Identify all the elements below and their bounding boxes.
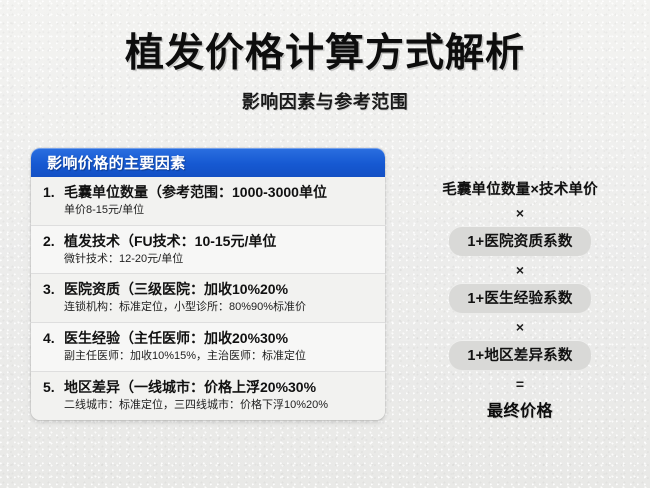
factors-card-header-label: 影响价格的主要因素 — [47, 152, 186, 173]
page-title: 植发价格计算方式解析 — [0, 34, 650, 75]
formula-operator-2: × — [398, 263, 642, 277]
factor-row-2: 2.植发技术（FU技术：10-15元/单位 微针技术：12-20元/单位 — [31, 226, 385, 275]
factor-sub-2: 微针技术：12-20元/单位 — [64, 252, 375, 267]
factor-title-5: 地区差异（一线城市：价格上浮20%30% — [64, 379, 316, 395]
factor-sub-4: 副主任医师：加收10%15%，主治医师：标准定位 — [64, 349, 375, 364]
factor-main-3: 3.医院资质（三级医院：加收10%20% — [43, 280, 375, 299]
formula-term-3-wrapper: 1+地区差异系数 — [398, 340, 642, 370]
factors-card-header: 影响价格的主要因素 — [31, 148, 385, 177]
factor-title-1: 毛囊单位数量（参考范围：1000-3000单位 — [64, 184, 327, 200]
formula-term-1: 1+医院资质系数 — [449, 226, 590, 256]
factor-main-1: 1.毛囊单位数量（参考范围：1000-3000单位 — [43, 183, 375, 202]
factor-title-4: 医生经验（主任医师：加收20%30% — [64, 330, 288, 346]
formula-base-term: 毛囊单位数量×技术单价 — [398, 178, 642, 199]
factors-card: 影响价格的主要因素 1.毛囊单位数量（参考范围：1000-3000单位 单价8-… — [31, 148, 385, 420]
title-block: 植发价格计算方式解析 影响因素与参考范围 — [0, 34, 650, 114]
formula-term-1-wrapper: 1+医院资质系数 — [398, 226, 642, 256]
factor-row-4: 4.医生经验（主任医师：加收20%30% 副主任医师：加收10%15%，主治医师… — [31, 323, 385, 372]
factor-row-5: 5.地区差异（一线城市：价格上浮20%30% 二线城市：标准定位，三四线城市：价… — [31, 372, 385, 420]
formula-column: 毛囊单位数量×技术单价 × 1+医院资质系数 × 1+医生经验系数 × 1+地区… — [398, 178, 642, 421]
formula-operator-1: × — [398, 206, 642, 220]
factor-main-2: 2.植发技术（FU技术：10-15元/单位 — [43, 232, 375, 251]
formula-equals-sign: = — [398, 377, 642, 391]
formula-term-2: 1+医生经验系数 — [449, 283, 590, 313]
factor-row-1: 1.毛囊单位数量（参考范围：1000-3000单位 单价8-15元/单位 — [31, 177, 385, 226]
slide-canvas: 植发价格计算方式解析 影响因素与参考范围 影响价格的主要因素 1.毛囊单位数量（… — [0, 0, 650, 488]
factor-index-2: 2. — [43, 232, 64, 251]
factor-index-4: 4. — [43, 329, 64, 348]
factor-main-4: 4.医生经验（主任医师：加收20%30% — [43, 329, 375, 348]
formula-term-3: 1+地区差异系数 — [449, 340, 590, 370]
formula-result: 最终价格 — [398, 397, 642, 421]
factor-title-3: 医院资质（三级医院：加收10%20% — [64, 281, 288, 297]
factor-row-3: 3.医院资质（三级医院：加收10%20% 连锁机构：标准定位，小型诊所：80%9… — [31, 274, 385, 323]
factor-sub-5: 二线城市：标准定位，三四线城市：价格下浮10%20% — [64, 398, 375, 413]
factor-index-1: 1. — [43, 183, 64, 202]
factor-main-5: 5.地区差异（一线城市：价格上浮20%30% — [43, 378, 375, 397]
factor-sub-3: 连锁机构：标准定位，小型诊所：80%90%标准价 — [64, 300, 375, 315]
factor-sub-1: 单价8-15元/单位 — [64, 203, 375, 218]
formula-term-2-wrapper: 1+医生经验系数 — [398, 283, 642, 313]
factor-index-3: 3. — [43, 280, 64, 299]
factor-title-2: 植发技术（FU技术：10-15元/单位 — [64, 233, 276, 249]
page-subtitle: 影响因素与参考范围 — [0, 88, 650, 114]
factor-index-5: 5. — [43, 378, 64, 397]
formula-operator-3: × — [398, 320, 642, 334]
